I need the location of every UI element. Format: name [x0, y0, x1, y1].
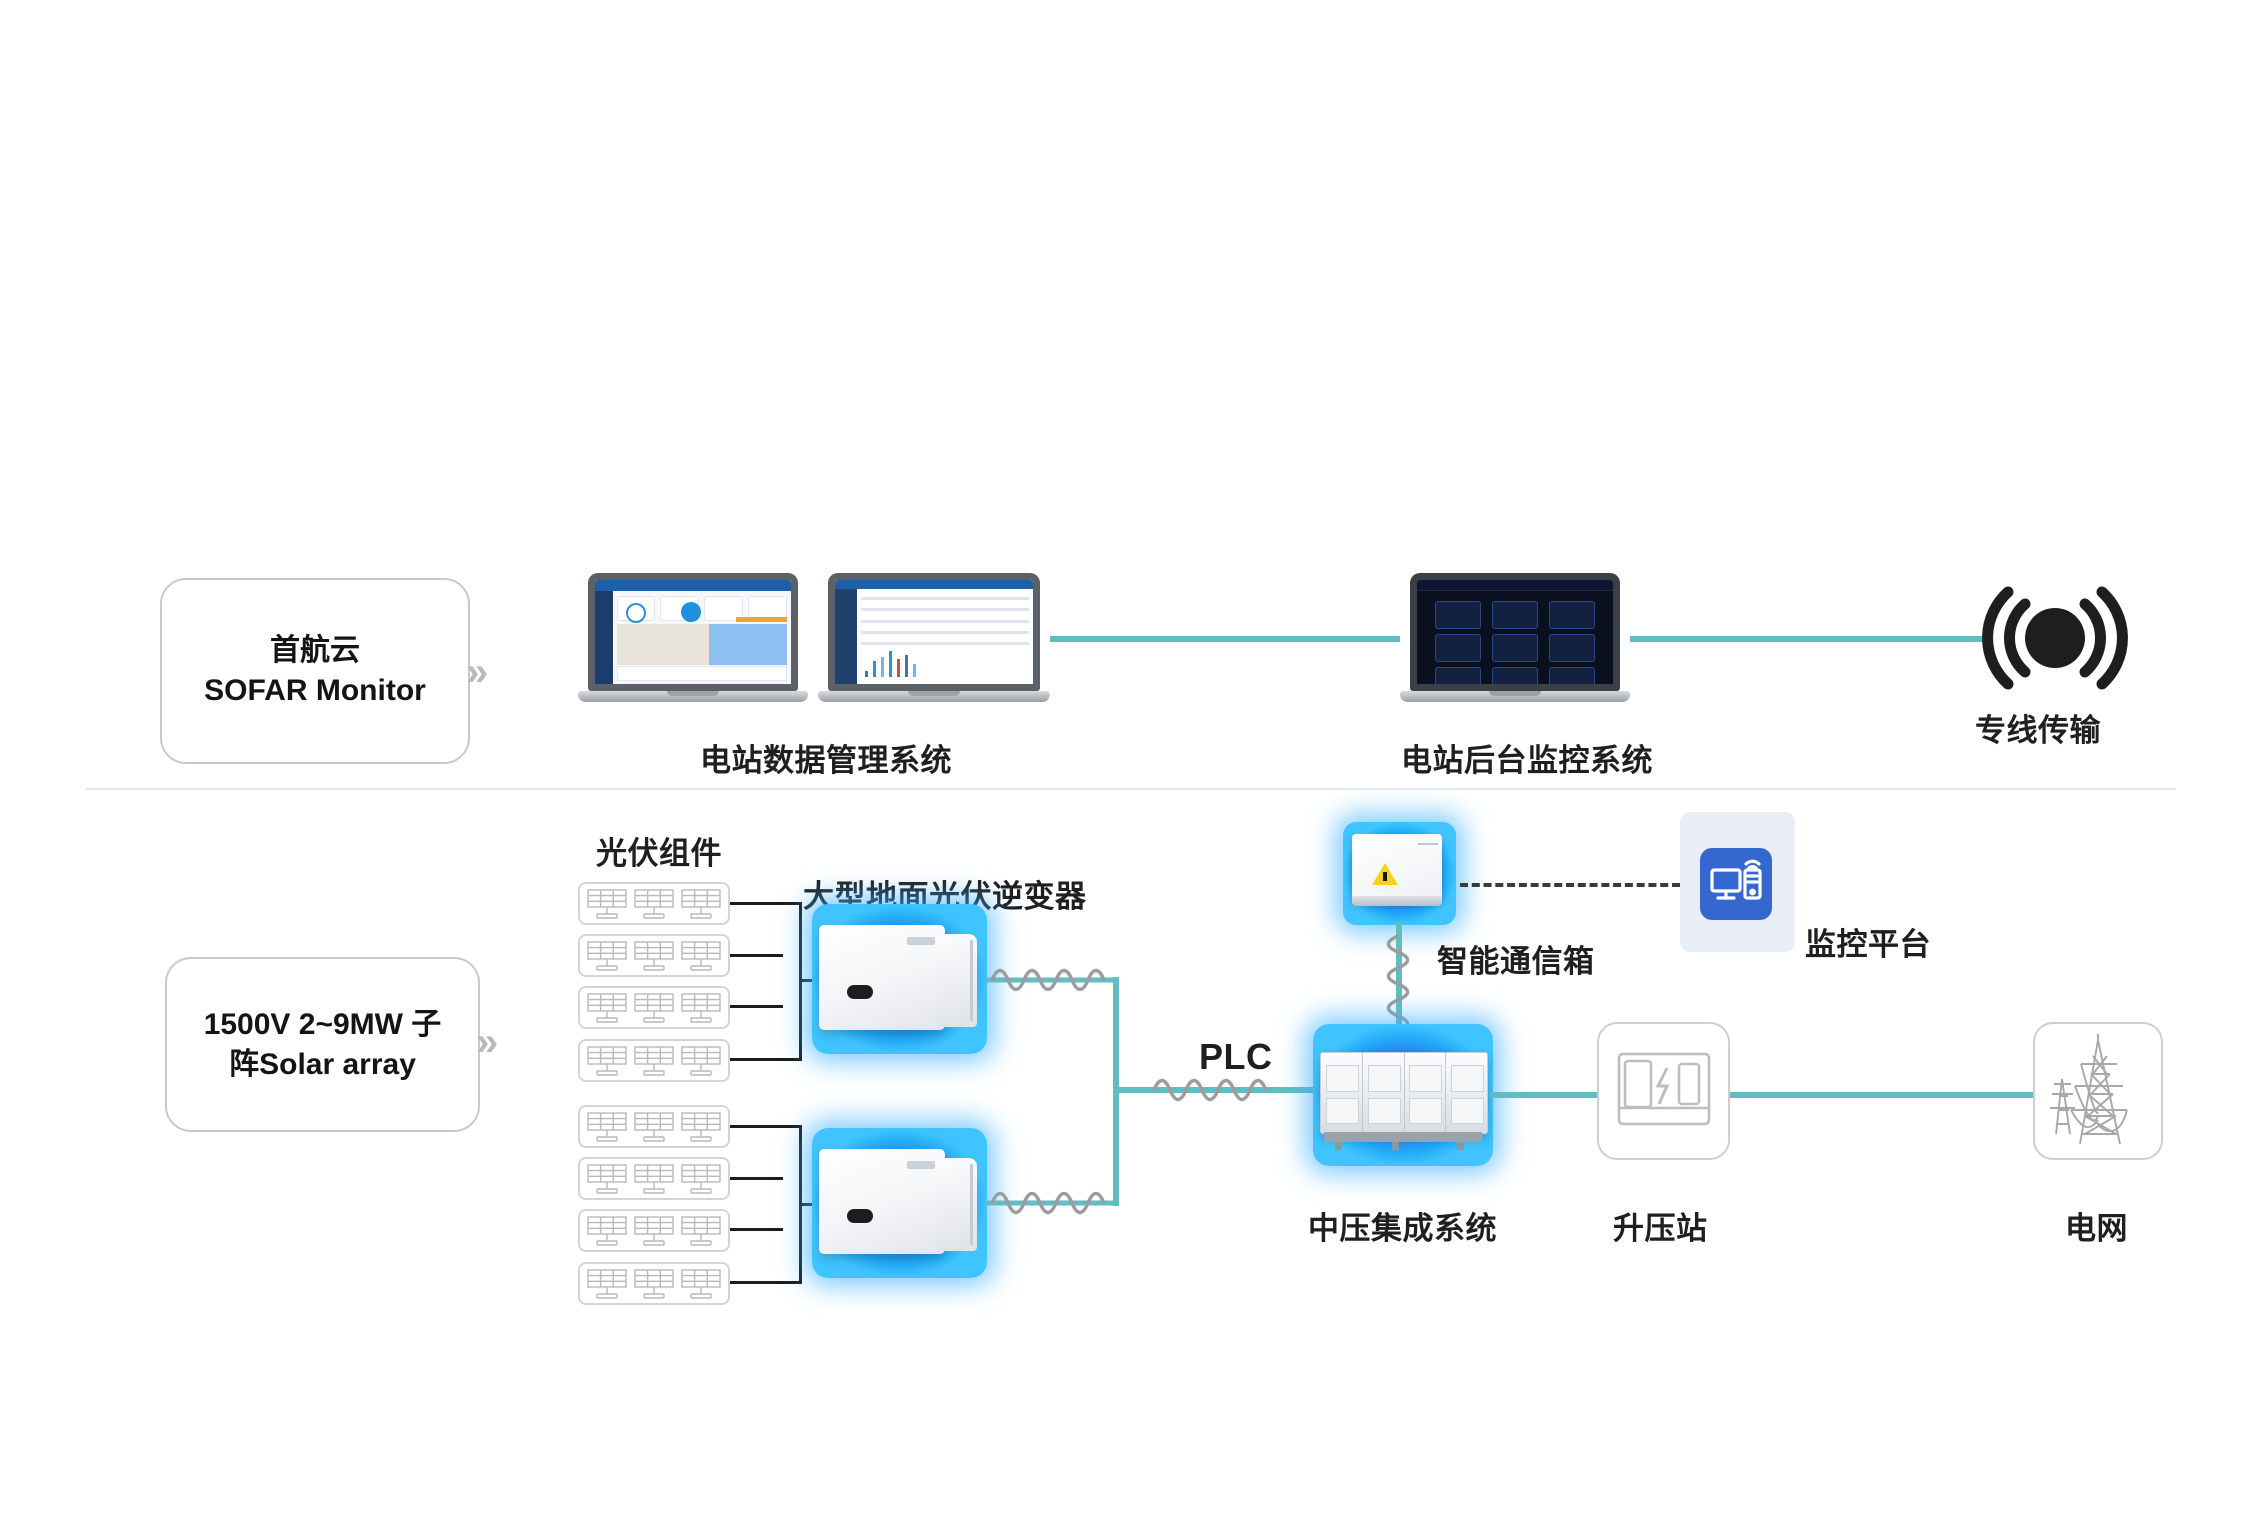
coil-commbox-link: [1374, 930, 1422, 1030]
laptop-backend-console: [1400, 573, 1630, 705]
wire-laptops-to-console: [1050, 636, 1400, 642]
label-dedicated-line-transmission: 专线传输: [1975, 705, 2101, 750]
laptop-reports: [818, 573, 1050, 705]
laptop-data-management: [578, 573, 808, 705]
coil-inverter2-output: [986, 1178, 1116, 1228]
coil-plc: [1148, 1065, 1278, 1115]
pv-harness-stub: [730, 954, 783, 957]
callout-solar-array-chevron: »: [476, 1022, 498, 1062]
laptop-screen-console: [1410, 573, 1620, 691]
pv-row: [578, 934, 730, 977]
wire-booster-to-grid: [1730, 1092, 2070, 1098]
section-divider: [86, 788, 2176, 790]
laptop-notch: [908, 691, 960, 696]
callout-solar-array: 1500V 2~9MW 子阵Solar array: [165, 957, 480, 1132]
smart-communication-box: [1343, 822, 1456, 925]
power-grid-tile: [2033, 1022, 2163, 1160]
pv-row: [578, 1105, 730, 1148]
dashed-link-commbox-to-platform: [1460, 883, 1680, 887]
label-power-grid: 电网: [2065, 1203, 2128, 1248]
laptop-notch: [667, 691, 719, 696]
pv-harness-stub: [730, 1281, 800, 1284]
pv-row: [578, 1039, 730, 1082]
pv-row: [578, 1262, 730, 1305]
pv-harness-stub: [730, 1125, 800, 1128]
pv-array-group-top: [578, 882, 730, 1082]
reports-screen-content: [835, 580, 1033, 684]
pv-row: [578, 986, 730, 1029]
inverter-unit-1: [812, 904, 987, 1054]
callout-sofar-monitor-text: 首航云SOFAR Monitor: [204, 631, 426, 711]
inverter-unit-2: [812, 1128, 987, 1278]
pv-harness-stub: [730, 1058, 800, 1061]
mv-integrated-system: [1313, 1024, 1493, 1166]
broadcast-icon: [1985, 578, 2125, 698]
laptop-notch: [1489, 691, 1541, 696]
callout-solar-array-text: 1500V 2~9MW 子阵Solar array: [204, 1005, 442, 1085]
callout-sofar-monitor: 首航云SOFAR Monitor: [160, 578, 470, 764]
wire-console-to-broadcast: [1630, 636, 1985, 642]
booster-station-tile: [1597, 1022, 1730, 1160]
diagram-canvas: 首航云SOFAR Monitor »: [0, 0, 2265, 1530]
label-mv-integrated-system: 中压集成系统: [1308, 1203, 1497, 1248]
monitor-wifi-icon: [1700, 848, 1772, 920]
pv-harness-stub: [730, 902, 800, 905]
label-booster-station: 升压站: [1613, 1203, 1708, 1248]
pv-harness-stub: [730, 1228, 783, 1231]
label-smart-communication-box: 智能通信箱: [1437, 936, 1595, 981]
pv-array-group-bottom: [578, 1105, 730, 1305]
callout-sofar-chevron: »: [466, 652, 488, 692]
label-pv-modules: 光伏组件: [596, 828, 722, 873]
label-data-management-system: 电站数据管理系统: [700, 735, 952, 780]
label-monitoring-platform: 监控平台: [1805, 919, 1931, 964]
coil-inverter1-output: [986, 955, 1116, 1005]
pv-row: [578, 1157, 730, 1200]
dashboard-screen-content: [595, 580, 791, 684]
pv-harness-stub: [730, 1177, 783, 1180]
pv-row: [578, 1209, 730, 1252]
console-screen-content: [1417, 580, 1613, 684]
pv-row: [578, 882, 730, 925]
laptop-screen-reports: [828, 573, 1040, 691]
warning-triangle-icon: [1372, 863, 1398, 885]
pv-harness-stub: [730, 1005, 783, 1008]
label-backend-monitoring-system: 电站后台监控系统: [1401, 735, 1653, 780]
laptop-screen-dashboard: [588, 573, 798, 691]
